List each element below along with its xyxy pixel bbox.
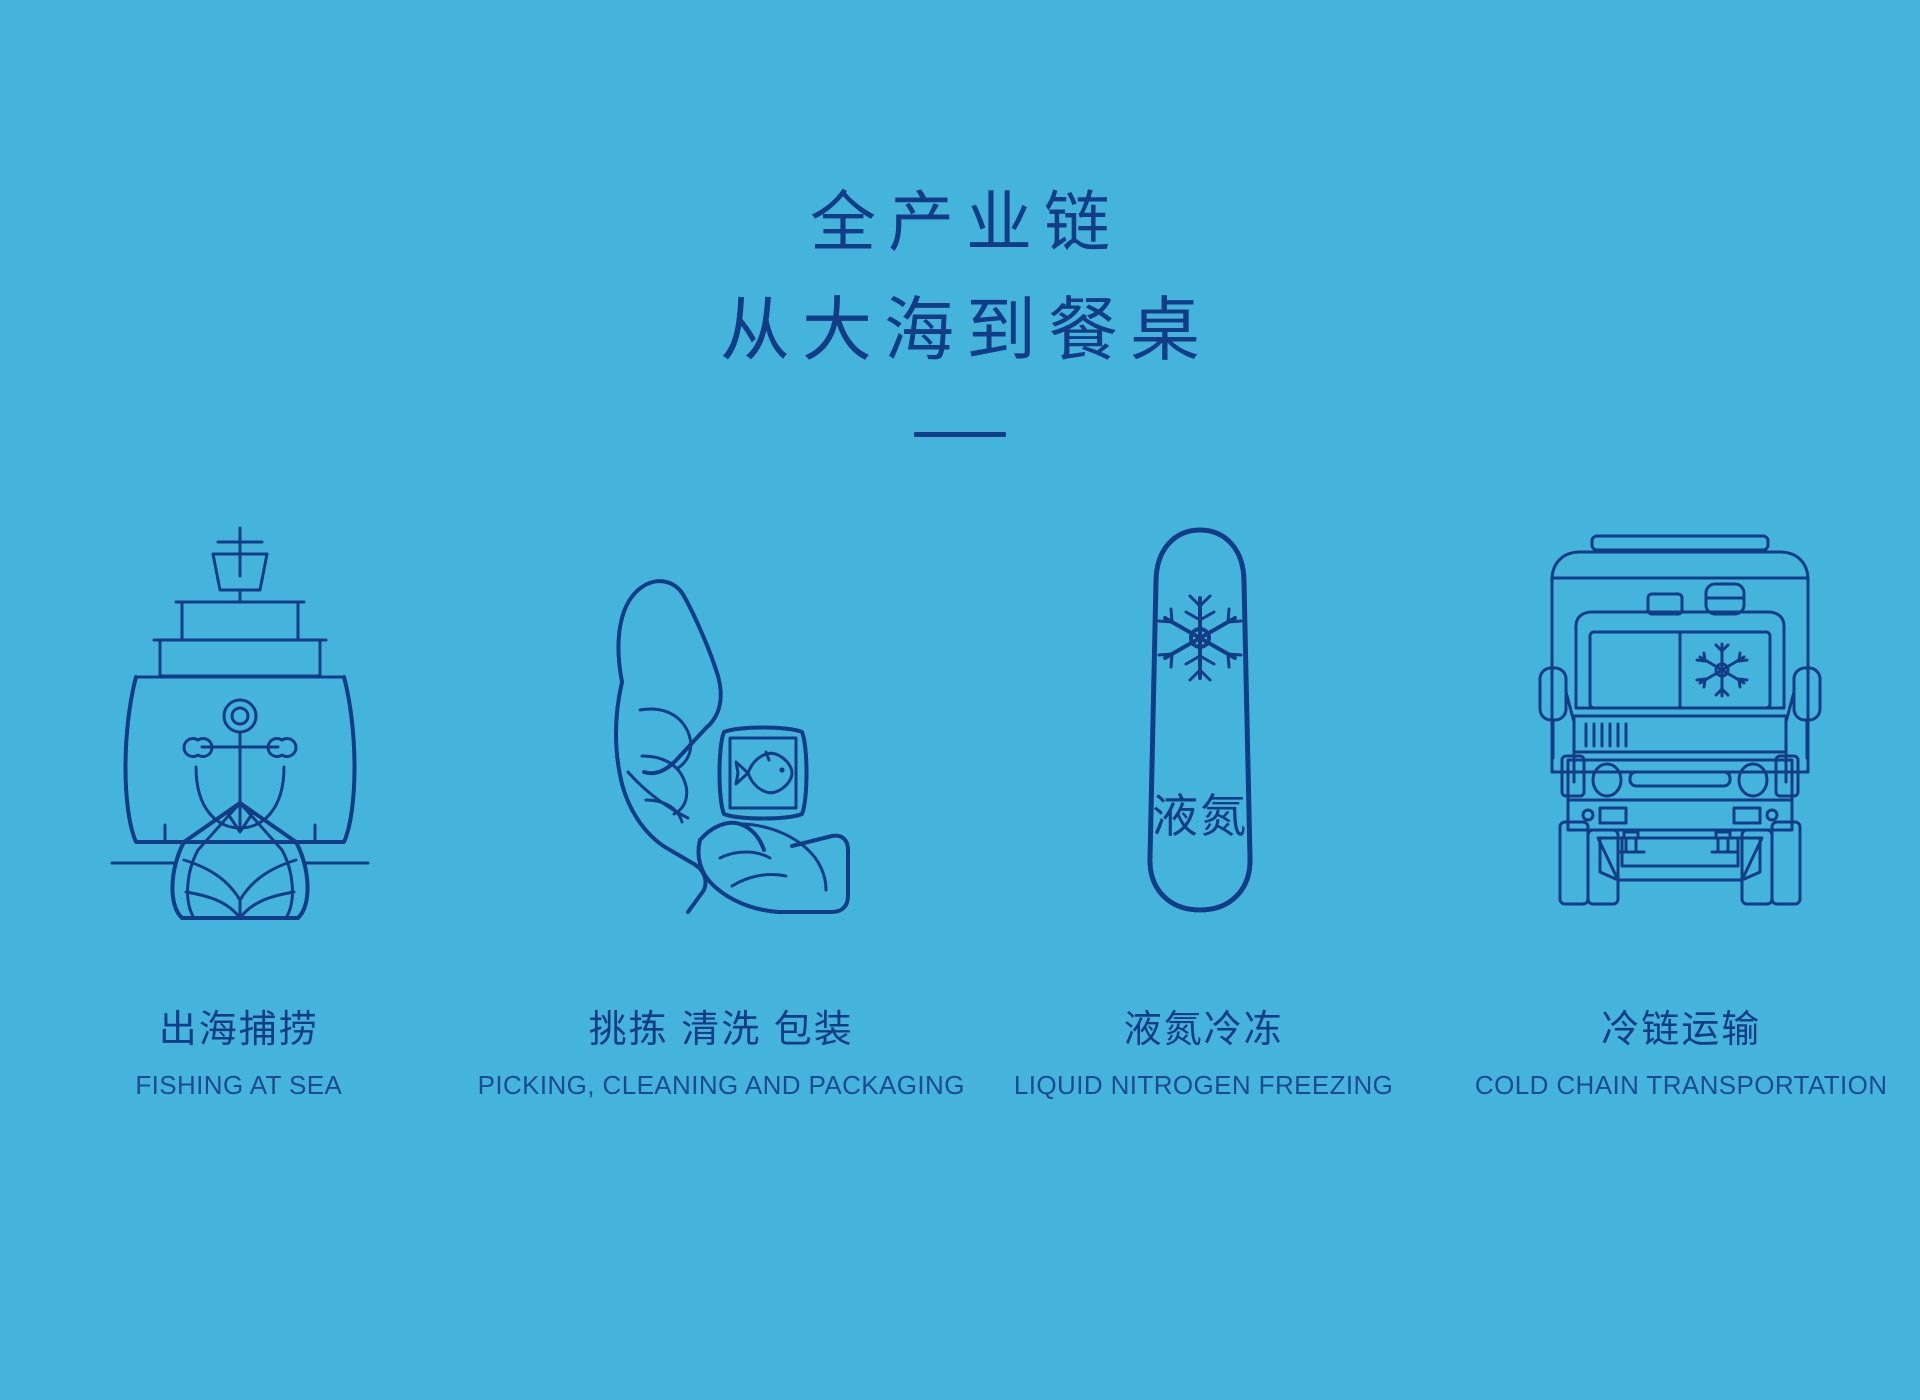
tank-text: 液氮 <box>1152 790 1248 842</box>
step-fishing-at-sea[interactable] <box>0 520 480 920</box>
label-cn-liquid-nitrogen-freezing: 液氮冷冻 <box>965 1005 1443 1055</box>
label-en-liquid-nitrogen-freezing: LIQUID NITROGEN FREEZING <box>965 1065 1443 1105</box>
page-header: 全产业链 从大海到餐桌 <box>0 170 1920 444</box>
hands-fish-package-icon <box>570 520 870 920</box>
label-cn-cold-chain-transportation: 冷链运输 <box>1442 1005 1920 1055</box>
label-en-cold-chain-transportation: COLD CHAIN TRANSPORTATION <box>1442 1065 1920 1105</box>
label-cell-liquid-nitrogen-freezing: 液氮冷冻 LIQUID NITROGEN FREEZING <box>965 1005 1443 1105</box>
process-steps-labels: 出海捕捞 FISHING AT SEA 挑拣 清洗 包装 PICKING, CL… <box>0 1005 1920 1105</box>
icon-box-fishing-at-sea <box>110 520 370 920</box>
process-steps-icons: 液氮 <box>0 520 1920 920</box>
step-cold-chain-transportation[interactable] <box>1440 520 1920 920</box>
snowflake-icon <box>1159 596 1241 680</box>
title-divider <box>914 432 1006 437</box>
refrigerated-truck-icon <box>1530 520 1830 920</box>
label-cell-fishing-at-sea: 出海捕捞 FISHING AT SEA <box>0 1005 478 1105</box>
label-cell-picking-cleaning-packaging: 挑拣 清洗 包装 PICKING, CLEANING AND PACKAGING <box>478 1005 965 1105</box>
step-liquid-nitrogen-freezing[interactable]: 液氮 <box>960 520 1440 920</box>
icon-box-cold-chain-transportation <box>1530 520 1830 920</box>
label-cn-picking-cleaning-packaging: 挑拣 清洗 包装 <box>478 1005 965 1055</box>
page-root: 全产业链 从大海到餐桌 <box>0 0 1920 1400</box>
step-picking-cleaning-packaging[interactable] <box>480 520 960 920</box>
icon-box-picking-cleaning-packaging <box>570 520 870 920</box>
fishing-boat-icon <box>110 520 370 920</box>
label-en-picking-cleaning-packaging: PICKING, CLEANING AND PACKAGING <box>478 1065 965 1105</box>
page-title-line-1: 全产业链 <box>0 170 1920 278</box>
label-cell-cold-chain-transportation: 冷链运输 COLD CHAIN TRANSPORTATION <box>1442 1005 1920 1105</box>
title-divider-wrap <box>0 424 1920 444</box>
icon-box-liquid-nitrogen-freezing: 液氮 <box>1100 520 1300 920</box>
liquid-nitrogen-tank-icon: 液氮 <box>1100 520 1300 920</box>
page-title-line-2: 从大海到餐桌 <box>0 278 1920 386</box>
snowflake-icon <box>1697 644 1747 696</box>
label-cn-fishing-at-sea: 出海捕捞 <box>0 1005 478 1055</box>
label-en-fishing-at-sea: FISHING AT SEA <box>0 1065 478 1105</box>
